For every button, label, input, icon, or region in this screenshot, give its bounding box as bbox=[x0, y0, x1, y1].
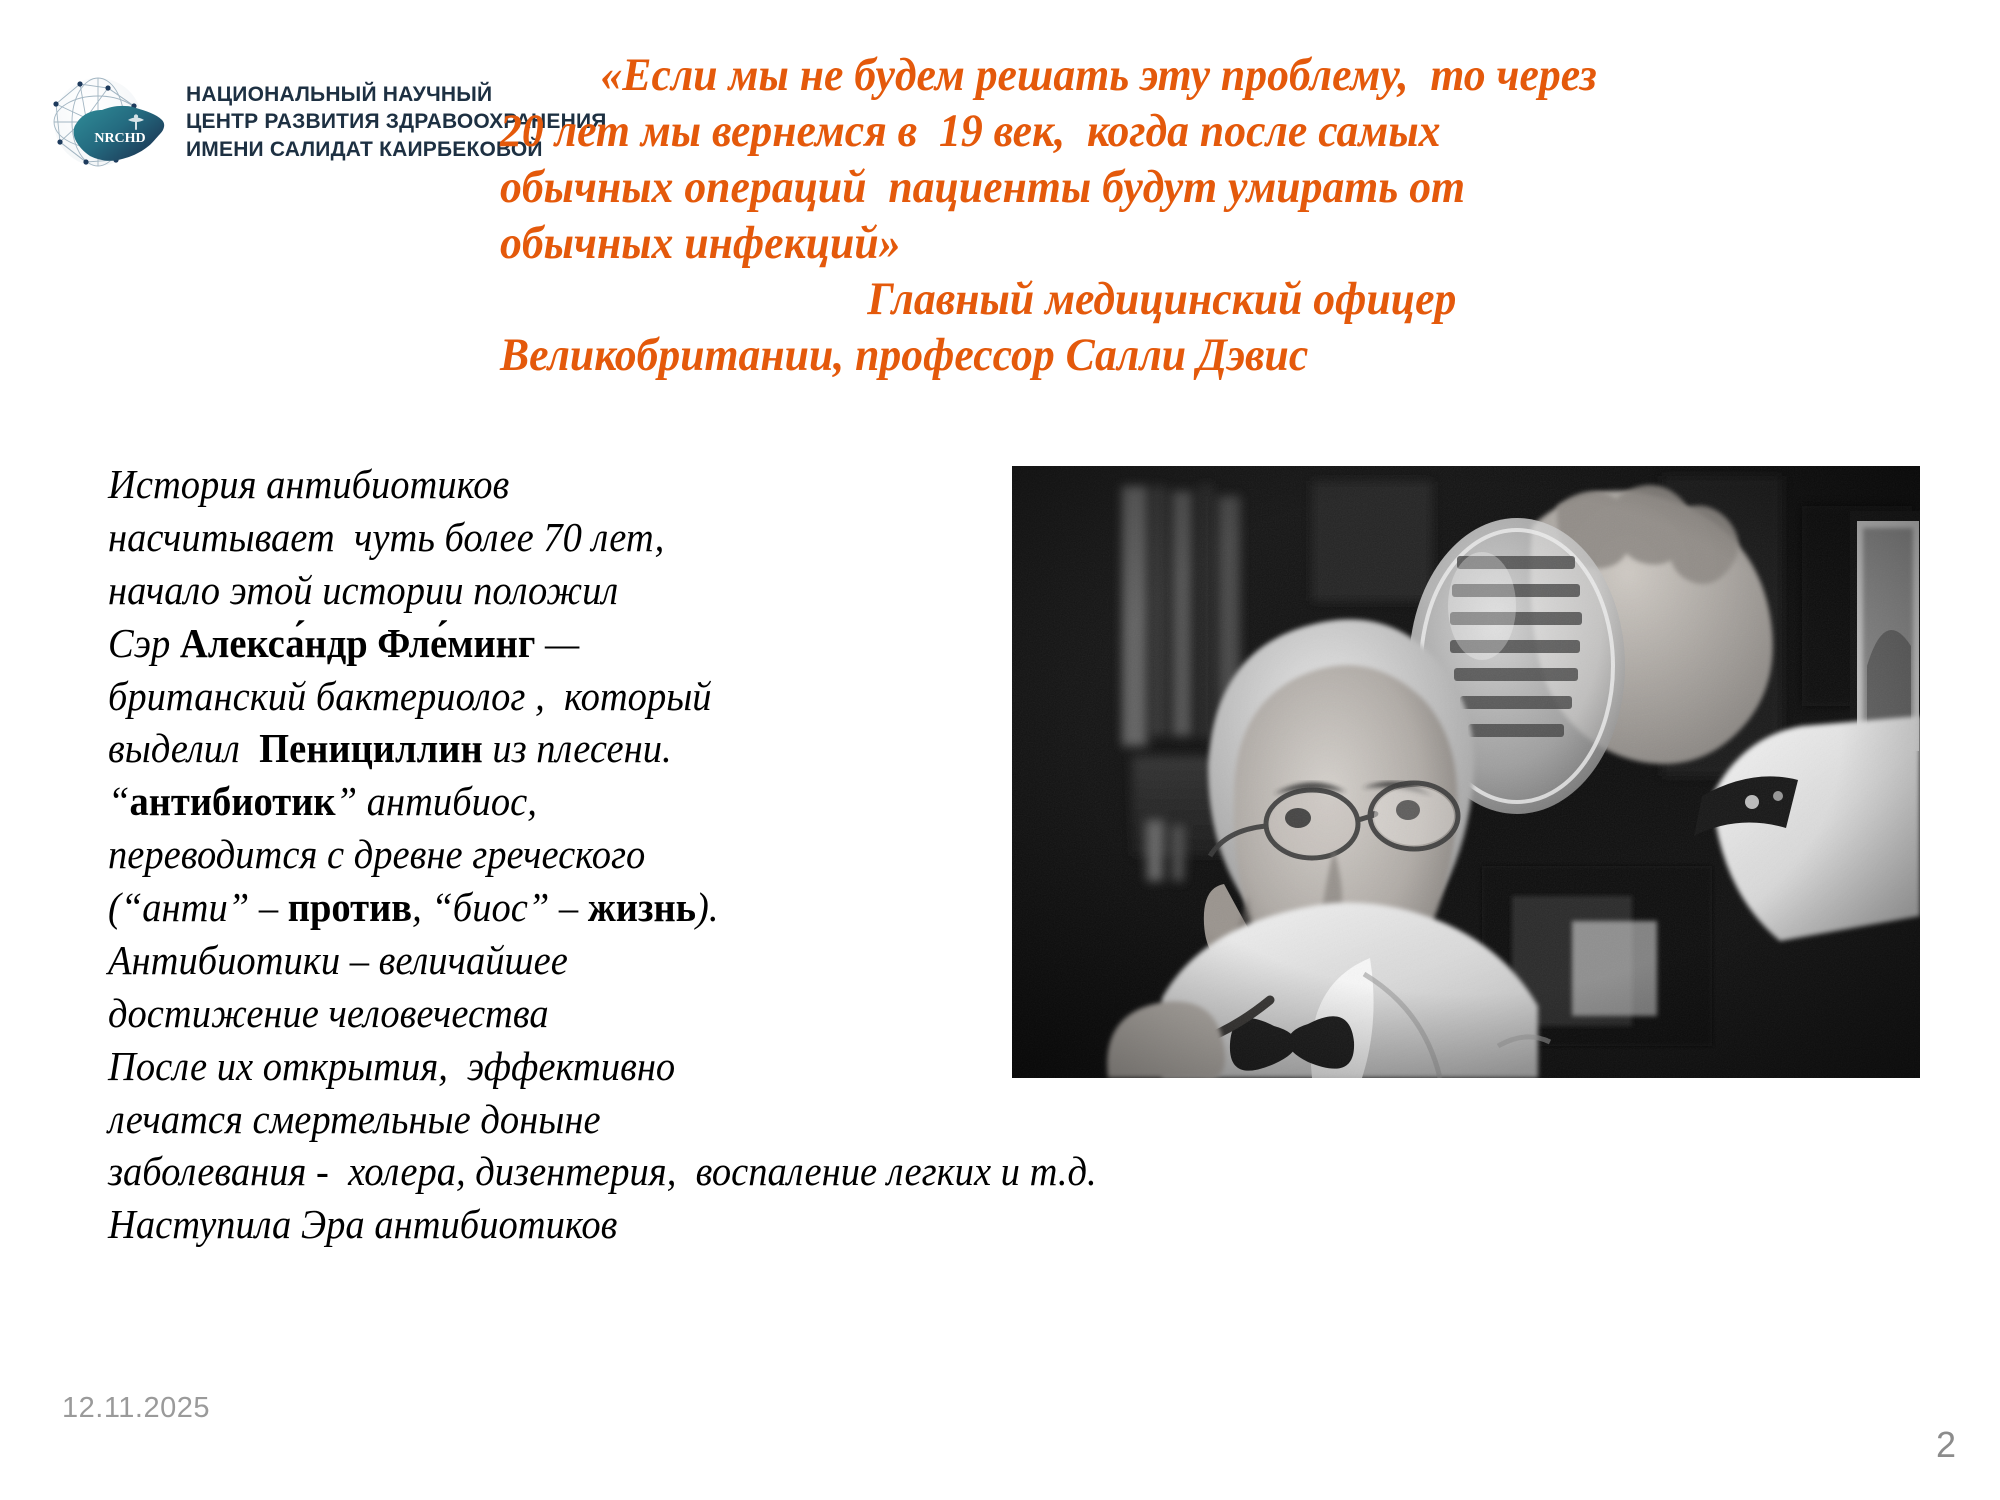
quote-line-3: обычных операций пациенты будут умирать … bbox=[500, 160, 1830, 216]
body-line-15: Наступила Эра антибиотиков bbox=[108, 1198, 1330, 1251]
quote-attribution-line-2: Великобритании, профессор Салли Дэвис bbox=[500, 328, 1830, 384]
quote-attribution-line-1: Главный медицинский офицер bbox=[500, 272, 1830, 328]
emphasis-term: Алекса́ндр Фле́минг bbox=[180, 620, 536, 666]
body-line-14: заболевания - холера, дизентерия, воспал… bbox=[108, 1145, 1330, 1198]
emphasis-term: против bbox=[288, 884, 412, 930]
body-line-13: лечатся смертельные доныне bbox=[108, 1093, 1330, 1146]
headline-quote: «Если мы не будем решать эту проблему, т… bbox=[500, 48, 1830, 384]
nrchd-globe-map-logo-icon: NRCHD bbox=[42, 62, 172, 182]
alexander-fleming-photo bbox=[1012, 466, 1920, 1078]
emphasis-term: Пенициллин bbox=[259, 725, 483, 771]
slide-canvas: NRCHD НАЦИОНАЛЬНЫЙ НАУЧНЫЙ ЦЕНТР РАЗВИТИ… bbox=[0, 0, 2000, 1500]
quote-line-1: «Если мы не будем решать эту проблему, т… bbox=[500, 48, 1830, 104]
quote-line-2: 20 лет мы вернемся в 19 век, когда после… bbox=[500, 104, 1830, 160]
emphasis-term: антибиотик bbox=[129, 778, 335, 824]
page-number: 2 bbox=[1936, 1424, 1956, 1466]
logo-abbreviation-text: NRCHD bbox=[94, 131, 145, 146]
slide-date: 12.11.2025 bbox=[62, 1392, 210, 1425]
emphasis-term: жизнь bbox=[588, 884, 696, 930]
quote-line-4: обычных инфекций» bbox=[500, 216, 1830, 272]
